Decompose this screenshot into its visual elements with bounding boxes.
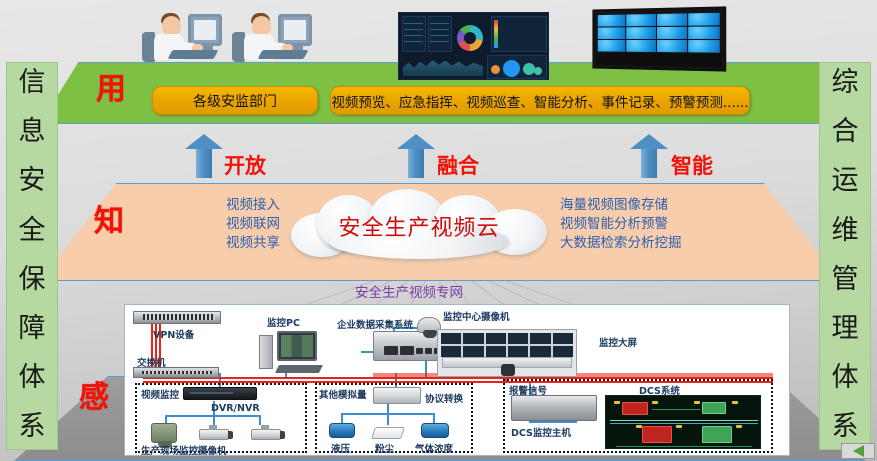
pillar-right-char-1: 合 bbox=[832, 118, 859, 146]
pillar-left-char-3: 全 bbox=[19, 217, 46, 245]
up-arrow-intelligent-icon bbox=[630, 134, 668, 178]
cloud-right-item-1: 视频智能分析预警 bbox=[560, 215, 750, 234]
label-dvr-nvr: DVR/NVR bbox=[211, 403, 260, 414]
pillar-right-char-5: 理 bbox=[832, 315, 859, 343]
pillar-left-char-2: 安 bbox=[19, 167, 46, 195]
arrow-label-open: 开放 bbox=[224, 150, 266, 180]
label-center-camera: 监控中心摄像机 bbox=[443, 309, 510, 323]
dcs-host-icon bbox=[511, 395, 597, 421]
hydraulic-sensor-icon bbox=[329, 423, 355, 438]
label-big-screen: 监控大屏 bbox=[599, 335, 637, 349]
pillar-left-char-1: 息 bbox=[19, 118, 46, 146]
cloud-left-item-0: 视频接入 bbox=[140, 196, 280, 215]
left-arrow-icon bbox=[853, 445, 864, 457]
cloud-right-item-2: 大数据检索分析挖掘 bbox=[560, 234, 750, 253]
label-dcs-host: DCS监控主机 bbox=[511, 425, 571, 439]
label-hydraulic: 液压 bbox=[331, 441, 350, 455]
label-switch: 交换机 bbox=[137, 355, 166, 369]
pillar-right-char-2: 运 bbox=[832, 167, 859, 195]
pillar-right-char-6: 体 bbox=[832, 364, 859, 392]
cloud-right-item-0: 海量视频图像存储 bbox=[560, 196, 750, 215]
pillar-right-char-4: 管 bbox=[832, 266, 859, 294]
cloud-title: 安全生产视频云 bbox=[283, 210, 555, 242]
label-monitoring-pc: 监控PC bbox=[267, 315, 300, 329]
architecture-diagram: 用 知 感 信 息 安 全 保 障 体 系 综 合 运 维 管 理 体 系 bbox=[0, 0, 877, 461]
label-alarm-signal: 报警信号 bbox=[509, 383, 547, 397]
label-dcs-system: DCS系统 bbox=[639, 383, 680, 397]
pillar-left-char-7: 系 bbox=[19, 413, 46, 441]
label-application-functions[interactable]: 视频预览、应急指挥、视频巡查、智能分析、事件记录、预警预测...... bbox=[330, 86, 750, 115]
monitoring-pc-icon bbox=[257, 329, 327, 377]
layer-glyph-know: 知 bbox=[94, 196, 124, 240]
cloud-left-item-1: 视频联网 bbox=[140, 215, 280, 234]
infrastructure-panel: VPN设备 交换机 监控PC 企业数据采集系统 监控中心摄像机 bbox=[124, 304, 790, 456]
private-network-label: 安全生产视频专网 bbox=[355, 281, 463, 301]
arrow-label-intelligent: 智能 bbox=[671, 150, 713, 180]
label-safety-supervision-departments[interactable]: 各级安监部门 bbox=[152, 86, 318, 115]
cloud-capability-list-right: 海量视频图像存储 视频智能分析预警 大数据检索分析挖掘 bbox=[560, 196, 750, 253]
layer-glyph-sense: 感 bbox=[79, 372, 109, 416]
control-room-videowall-icon bbox=[437, 329, 577, 377]
corner-scroll-tab[interactable] bbox=[841, 443, 875, 459]
ptz-camera-icon bbox=[151, 423, 177, 443]
dust-sensor-icon bbox=[371, 427, 405, 439]
pillar-right-char-7: 系 bbox=[832, 413, 859, 441]
pillar-left-char-6: 体 bbox=[19, 364, 46, 392]
protocol-converter-icon bbox=[373, 387, 421, 404]
gas-sensor-icon bbox=[421, 423, 449, 438]
dvr-nvr-icon bbox=[183, 387, 257, 400]
video-cloud-icon: 安全生产视频云 bbox=[283, 189, 555, 261]
pillar-right-char-0: 综 bbox=[832, 69, 859, 97]
pillar-information-security: 信 息 安 全 保 障 体 系 bbox=[6, 62, 58, 450]
pillar-left-char-5: 障 bbox=[19, 315, 46, 343]
pillar-right-char-3: 维 bbox=[832, 217, 859, 245]
pillar-left-char-0: 信 bbox=[19, 69, 46, 97]
label-dust: 粉尘 bbox=[375, 441, 394, 455]
label-video-surveillance: 视频监控 bbox=[141, 387, 179, 401]
bullet-camera-icon-2 bbox=[251, 429, 281, 440]
arrow-label-fusion: 融合 bbox=[437, 150, 479, 180]
layer-glyph-use: 用 bbox=[96, 64, 126, 108]
pillar-om-management: 综 合 运 维 管 理 体 系 bbox=[819, 62, 871, 450]
label-gas-concentration: 气体浓度 bbox=[415, 441, 453, 455]
label-protocol-conversion: 协议转换 bbox=[425, 391, 463, 405]
up-arrow-fusion-icon bbox=[397, 134, 435, 178]
label-other-analog: 其他模拟量 bbox=[319, 387, 367, 401]
cloud-capability-list-left: 视频接入 视频联网 视频共享 bbox=[140, 196, 280, 253]
bullet-camera-icon-1 bbox=[199, 429, 229, 440]
analytics-dashboard-icon bbox=[398, 12, 549, 80]
label-vpn-device: VPN设备 bbox=[153, 327, 194, 341]
operators-at-computers-icon bbox=[140, 8, 316, 70]
cloud-left-item-2: 视频共享 bbox=[140, 234, 280, 253]
label-data-acquisition-system: 企业数据采集系统 bbox=[337, 317, 413, 331]
dcs-scada-screen-icon bbox=[605, 395, 761, 449]
label-field-cameras: 生产现场监控摄像机 bbox=[141, 443, 227, 456]
vpn-appliance-icon bbox=[133, 311, 221, 324]
pillar-left-char-4: 保 bbox=[19, 266, 46, 294]
up-arrow-open-icon bbox=[185, 134, 223, 178]
video-wall-icon bbox=[588, 8, 734, 80]
